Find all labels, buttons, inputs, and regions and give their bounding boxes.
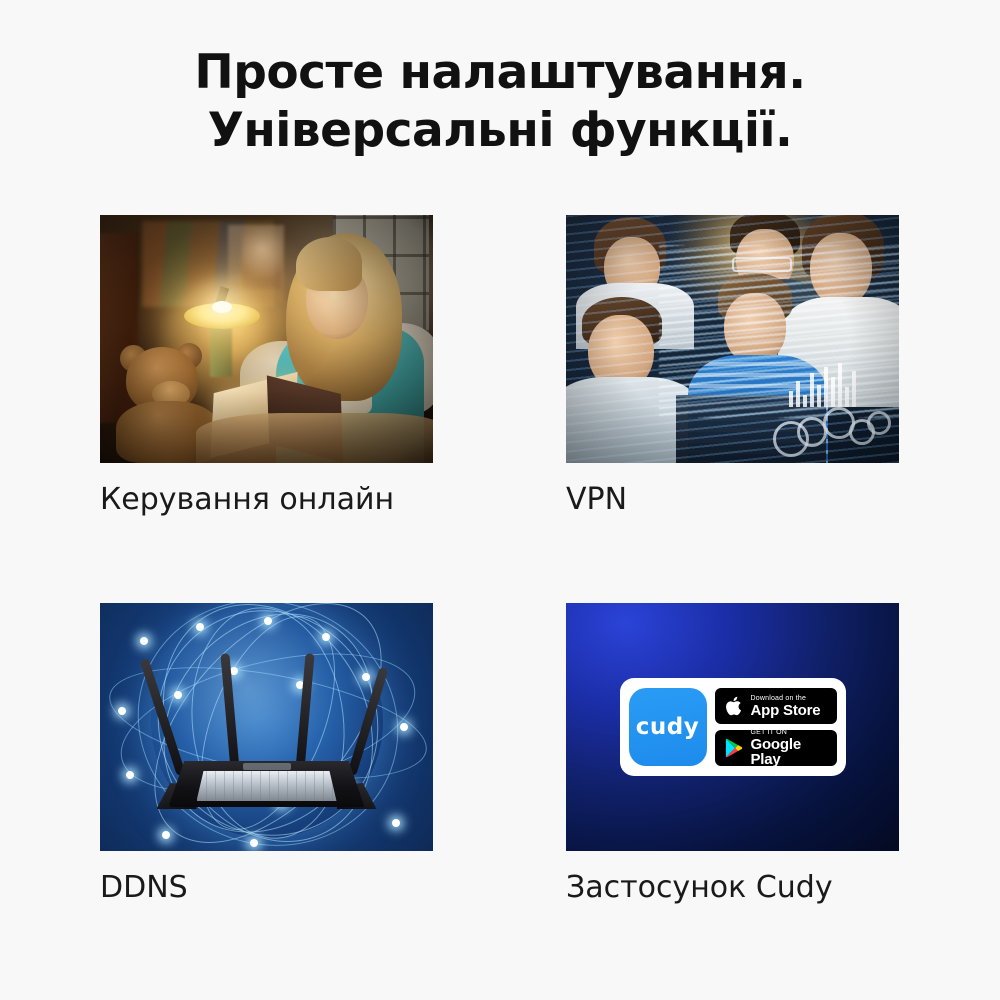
network-node [392,819,400,827]
app-store-big-text: App Store [751,703,821,718]
network-node [322,633,330,641]
feature-card-vpn[interactable]: VPN [566,215,899,519]
page-title-line-2: Універсальні функції. [0,102,1000,160]
network-node [196,623,204,631]
feature-card-online-management[interactable]: Керування онлайн [100,215,433,519]
network-node [264,617,272,625]
network-node [162,831,170,839]
feature-caption-online-management: Керування онлайн [100,481,433,519]
router-brand-mark [243,763,291,770]
app-store-badge[interactable]: Download on the App Store [715,688,837,724]
router-device [149,685,385,817]
page-title-line-1: Просте налаштування. [0,44,1000,102]
network-node [140,637,148,645]
photo-vignette [566,215,899,463]
feature-caption-ddns: DDNS [100,869,433,907]
feature-card-cudy-app[interactable]: cudy Download on the App Store [566,603,899,907]
page-title: Просте налаштування. Універсальні функці… [0,44,1000,160]
google-play-small-text: GET IT ON [751,729,829,736]
download-panel: cudy Download on the App Store [620,678,846,776]
router-front-panel [197,771,337,801]
cudy-app-download-banner: cudy Download on the App Store [566,603,899,851]
apple-icon [723,696,745,716]
network-node [250,839,258,847]
network-node [400,723,408,731]
cudy-app-icon: cudy [629,688,707,766]
photo-vignette [100,215,433,463]
app-store-label: Download on the App Store [751,695,821,718]
girl-reading-in-bedroom-photo [100,215,433,463]
app-store-small-text: Download on the [751,695,821,702]
store-badges: Download on the App Store [715,688,837,766]
network-node [126,771,134,779]
google-play-label: GET IT ON Google Play [751,729,829,767]
cudy-logo-text: cudy [636,714,699,740]
network-node [118,707,126,715]
router-network-globe-photo [100,603,433,851]
feature-caption-cudy-app: Застосунок Cudy [566,869,899,907]
feature-caption-vpn: VPN [566,481,899,519]
people-looking-at-screen-photo [566,215,899,463]
google-play-badge[interactable]: GET IT ON Google Play [715,730,837,766]
network-node [362,673,370,681]
google-play-icon [723,738,745,758]
google-play-big-text: Google Play [751,737,829,767]
feature-card-ddns[interactable]: DDNS [100,603,433,907]
